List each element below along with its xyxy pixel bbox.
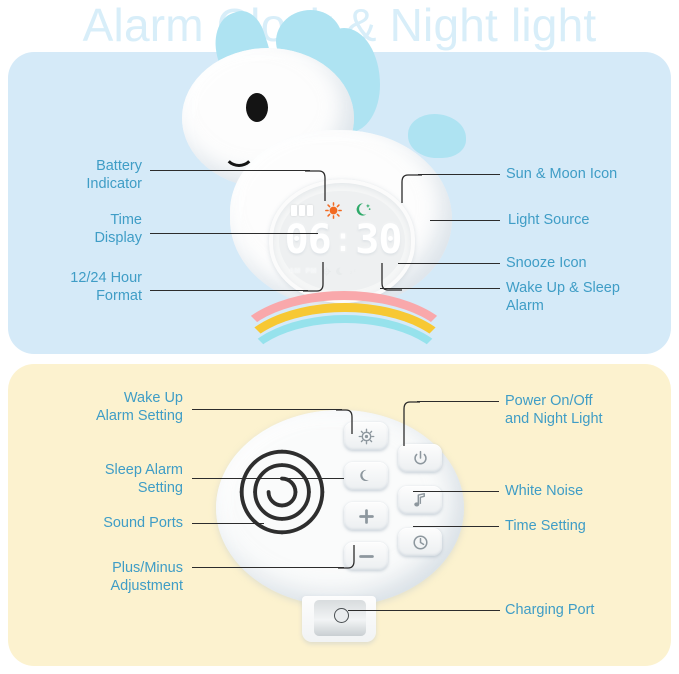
leader-elbow-wake-alarm (336, 409, 356, 435)
leader-time-setting (413, 526, 499, 527)
leader-elbow-sun-moon (398, 174, 422, 204)
label-battery-indicator: Battery Indicator (18, 158, 142, 193)
leader-sound-ports (192, 523, 264, 524)
leader-wake-up-alarm-setting (192, 409, 342, 410)
sound-ports-grille (234, 444, 330, 540)
sleep-button[interactable] (344, 462, 388, 490)
leader-time-display (150, 233, 318, 234)
plus-icon (358, 508, 375, 525)
leader-hour-format (150, 290, 308, 291)
power-icon (412, 450, 429, 467)
label-sun-moon-icon: Sun & Moon Icon (506, 166, 666, 184)
am-indicator: AM (289, 268, 301, 275)
leader-elbow-snooze (378, 263, 402, 291)
leader-elbow-power (400, 401, 420, 447)
svg-text:z: z (353, 269, 355, 273)
product-front-illustration: 06 : 30 AM PM (168, 10, 498, 350)
sleeping-moon-icon (357, 468, 375, 485)
snooze-zz-icon: z z (350, 267, 359, 276)
label-sleep-alarm-setting: Sleep Alarm Setting (28, 462, 183, 497)
leader-snooze-icon (398, 263, 500, 264)
hours-value: 06 (285, 220, 331, 260)
rainbow-light (226, 285, 458, 349)
leader-power-night-light (417, 401, 499, 402)
product-back-illustration (196, 404, 496, 634)
time-digits: 06 : 30 (288, 218, 398, 262)
leader-elbow-hour-format (303, 262, 327, 292)
battery-indicator-icon (291, 205, 315, 216)
label-wake-sleep-alarm: Wake Up & Sleep Alarm (506, 280, 671, 315)
label-time-setting: Time Setting (505, 518, 665, 536)
leader-light-source (430, 220, 500, 221)
time-button[interactable] (398, 528, 442, 556)
label-sound-ports: Sound Ports (28, 515, 183, 533)
label-wake-up-alarm-setting: Wake Up Alarm Setting (28, 390, 183, 425)
leader-white-noise (413, 491, 499, 492)
clock-icon (412, 534, 429, 551)
minus-icon (358, 548, 375, 565)
charging-port-icon (334, 608, 349, 623)
infographic-root: Alarm Clock & Night light (0, 0, 679, 674)
svg-text:z: z (350, 271, 353, 276)
leader-elbow-battery (305, 170, 329, 202)
leader-sun-moon-icon (418, 174, 500, 175)
label-white-noise: White Noise (505, 483, 665, 501)
label-charging-port: Charging Port (505, 602, 665, 620)
leader-charging-port (348, 610, 500, 611)
music-note-icon (412, 492, 428, 509)
leader-plus-minus-adjustment (192, 567, 344, 568)
leader-elbow-plus-minus (338, 545, 358, 569)
label-snooze-icon: Snooze Icon (506, 255, 666, 273)
alarm-bell-icon (358, 428, 375, 445)
unicorn-tail (408, 114, 466, 158)
minutes-value: 30 (355, 220, 401, 260)
label-light-source: Light Source (508, 212, 668, 230)
label-time-display: Time Display (18, 212, 142, 247)
label-plus-minus-adjustment: Plus/Minus Adjustment (28, 560, 183, 595)
leader-wake-sleep-alarm (380, 288, 500, 289)
sleep-moon-icon (336, 267, 345, 276)
plus-button[interactable] (344, 502, 388, 530)
power-button[interactable] (398, 444, 442, 472)
leader-sleep-alarm-setting (192, 478, 344, 479)
unicorn-eye (246, 93, 268, 122)
time-colon: : (333, 223, 353, 257)
leader-battery-indicator (150, 170, 310, 171)
label-hour-format: 12/24 Hour Format (18, 270, 142, 305)
label-power-night-light: Power On/Off and Night Light (505, 393, 673, 428)
